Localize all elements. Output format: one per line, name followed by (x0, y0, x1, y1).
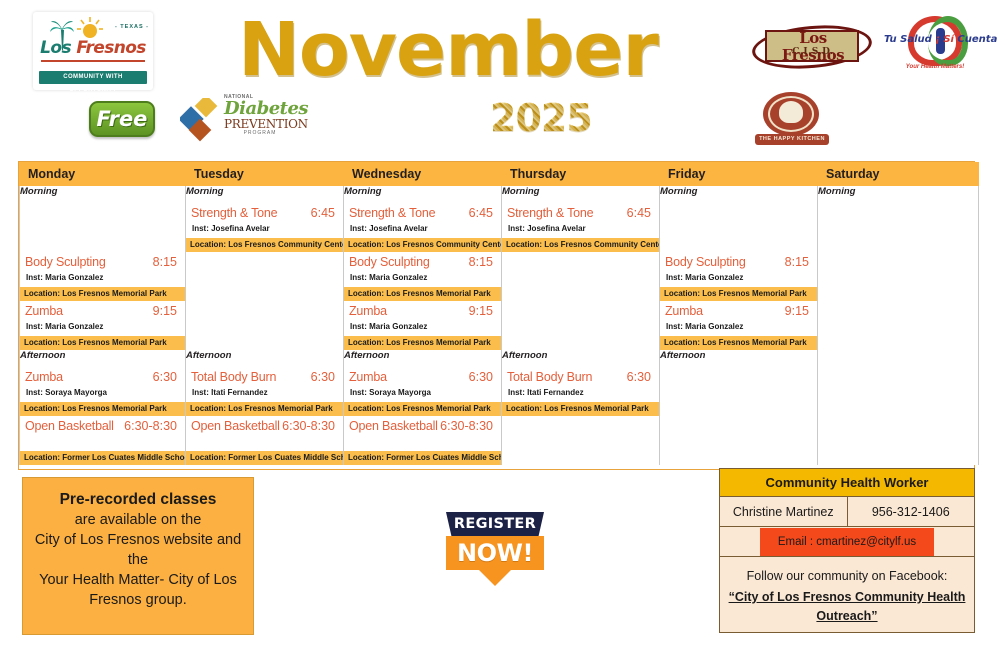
class-time: 9:15 (469, 304, 497, 319)
class-event-title-row: Zumba6:30 (25, 370, 181, 385)
cell-afternoon2-saturday[interactable] (818, 416, 979, 465)
los-fresnos-city-logo: - TEXAS - Los Fresnos COMMUNITY WITH OPP… (33, 12, 153, 90)
city-logo-rule (41, 60, 145, 62)
class-name: Body Sculpting (25, 255, 106, 270)
free-badge: Free (89, 101, 155, 137)
happy-kitchen-ribbon: THE HAPPY KITCHEN (755, 134, 829, 145)
facebook-follow-block: Follow our community on Facebook: “City … (720, 557, 974, 626)
class-name: Strength & Tone (349, 206, 435, 221)
band-morning-tuesday: Morning (186, 186, 344, 203)
class-location: Location: Former Los Cuates Middle Schoo… (20, 451, 185, 465)
class-time: 9:15 (153, 304, 181, 319)
class-location: Location: Los Fresnos Memorial Park (660, 287, 817, 301)
class-event-title-row: Open Basketball6:30-8:30 (191, 419, 339, 434)
class-time: 6:30 (311, 370, 339, 385)
class-schedule-calendar: Monday Tuesday Wednesday Thursday Friday… (18, 161, 975, 470)
cell-afternoon2-wednesday[interactable]: Open Basketball6:30-8:30Location: Former… (344, 416, 502, 465)
register-label: REGISTER (446, 512, 544, 538)
cell-morning1-monday[interactable] (20, 203, 186, 252)
class-event: Zumba9:15Inst: Maria Gonzalez (344, 301, 501, 336)
class-location: Location: Los Fresnos Memorial Park (660, 336, 817, 350)
tu-salud-si-cuenta-logo: Tu Salud ¡ Sí Cuenta ! Your Health Matte… (884, 14, 986, 72)
chef-hat-icon (779, 101, 803, 123)
class-name: Body Sculpting (349, 255, 430, 270)
class-time: 8:15 (153, 255, 181, 270)
prerecorded-classes-note: Pre-recorded classes are available on th… (22, 477, 254, 635)
cell-morning3-saturday[interactable] (818, 301, 979, 350)
band-afternoon-saturday-empty (818, 350, 979, 367)
happy-kitchen-logo: THE HAPPY KITCHEN (755, 92, 829, 148)
band-afternoon-tuesday: Afternoon (186, 350, 344, 367)
afternoon-slot1-row: Zumba6:30Inst: Soraya MayorgaLocation: L… (20, 367, 979, 416)
band-afternoon-thursday: Afternoon (502, 350, 660, 367)
class-event: Body Sculpting8:15Inst: Maria Gonzalez (20, 252, 185, 287)
tu-salud-text: Tu Salud ¡ Sí Cuenta ! (884, 34, 986, 45)
cell-morning1-friday[interactable] (660, 203, 818, 252)
free-badge-label: Free (91, 103, 153, 135)
city-logo-state: - TEXAS - (115, 24, 149, 30)
class-event-title-row: Zumba9:15 (665, 304, 813, 319)
class-location: Location: Los Fresnos Memorial Park (20, 287, 185, 301)
now-label: NOW! (446, 536, 544, 570)
cell-morning2-saturday[interactable] (818, 252, 979, 301)
class-location: Location: Los Fresnos Memorial Park (20, 402, 185, 416)
class-location: Location: Los Fresnos Community Center (502, 238, 659, 252)
class-time: 8:15 (469, 255, 497, 270)
cell-afternoon1-thursday[interactable]: Total Body Burn6:30Inst: Itati Fernandez… (502, 367, 660, 416)
class-instructor: Inst: Maria Gonzalez (665, 319, 813, 336)
band-morning-monday: Morning (20, 186, 186, 203)
day-header-saturday: Saturday (818, 163, 979, 186)
ndpp-prevention: PREVENTION (224, 118, 296, 130)
page-title-month: November (238, 10, 738, 90)
morning-band-row: Morning Morning Morning Morning Morning … (20, 186, 979, 203)
class-name: Open Basketball (191, 419, 280, 434)
down-arrow-icon (479, 570, 511, 586)
class-time: 6:30-8:30 (440, 419, 497, 434)
cell-morning2-friday[interactable]: Body Sculpting8:15Inst: Maria GonzalezLo… (660, 252, 818, 301)
class-event-title-row: Zumba9:15 (25, 304, 181, 319)
prerecorded-line2: are available on the (75, 512, 202, 528)
ndpp-diabetes: Diabetes (224, 100, 296, 118)
prerecorded-line4: Your Health Matter- City of Los Fresnos … (39, 572, 237, 608)
class-event-title-row: Strength & Tone6:45 (507, 206, 655, 221)
class-instructor: Inst: Josefina Avelar (349, 221, 497, 238)
lf-cisd-logo: Los Fresnos C.I.S.D. (752, 24, 872, 72)
band-afternoon-monday: Afternoon (20, 350, 186, 367)
community-health-worker-card: Community Health Worker Christine Martin… (719, 468, 975, 633)
class-event: Strength & Tone6:45Inst: Josefina Avelar (502, 203, 659, 238)
cell-morning3-friday[interactable]: Zumba9:15Inst: Maria GonzalezLocation: L… (660, 301, 818, 350)
cell-afternoon2-friday[interactable] (660, 416, 818, 465)
class-instructor: Inst: Itati Fernandez (507, 385, 655, 402)
tu-salud-subtitle: Your Health Matters! (884, 64, 986, 70)
class-time: 6:45 (627, 206, 655, 221)
class-event: Zumba9:15Inst: Maria Gonzalez (20, 301, 185, 336)
register-now-button[interactable]: REGISTER NOW! (446, 512, 544, 596)
day-header-thursday: Thursday (502, 163, 660, 186)
band-afternoon-wednesday: Afternoon (344, 350, 502, 367)
class-location: Location: Los Fresnos Memorial Park (502, 402, 659, 416)
cell-morning3-monday[interactable]: Zumba9:15Inst: Maria GonzalezLocation: L… (20, 301, 186, 350)
class-location: Location: Los Fresnos Memorial Park (344, 336, 501, 350)
afternoon-band-row: Afternoon Afternoon Afternoon Afternoon … (20, 350, 979, 367)
cell-morning1-wednesday[interactable]: Strength & Tone6:45Inst: Josefina Avelar… (344, 203, 502, 252)
class-name: Strength & Tone (191, 206, 277, 221)
day-header-wednesday: Wednesday (344, 163, 502, 186)
diamond-blocks-icon (180, 98, 224, 142)
cell-afternoon1-tuesday[interactable]: Total Body Burn6:30Inst: Itati Fernandez… (186, 367, 344, 416)
class-event-title-row: Zumba9:15 (349, 304, 497, 319)
band-morning-saturday: Morning (818, 186, 979, 203)
band-morning-friday: Morning (660, 186, 818, 203)
cell-morning3-tuesday[interactable] (186, 301, 344, 350)
class-instructor: Inst: Maria Gonzalez (349, 319, 497, 336)
class-event-title-row: Body Sculpting8:15 (25, 255, 181, 270)
class-time: 6:45 (469, 206, 497, 221)
class-event-title-row: Open Basketball6:30-8:30 (25, 419, 181, 434)
cell-afternoon2-monday[interactable]: Open Basketball6:30-8:30Location: Former… (20, 416, 186, 465)
contact-email[interactable]: Email : cmartinez@citylf.us (760, 528, 934, 556)
diabetes-logo-text: NATIONAL Diabetes PREVENTION PROGRAM (224, 94, 296, 136)
class-name: Zumba (349, 304, 387, 319)
class-time: 6:30 (627, 370, 655, 385)
class-time: 6:30-8:30 (282, 419, 339, 434)
band-morning-wednesday: Morning (344, 186, 502, 203)
class-event: Open Basketball6:30-8:30 (344, 416, 501, 451)
morning-slot3-row: Zumba9:15Inst: Maria GonzalezLocation: L… (20, 301, 979, 350)
cell-morning1-tuesday[interactable]: Strength & Tone6:45Inst: Josefina Avelar… (186, 203, 344, 252)
day-header-friday: Friday (660, 163, 818, 186)
contact-phone[interactable]: 956-312-1406 (848, 497, 975, 526)
contact-info-row: Christine Martinez 956-312-1406 (720, 497, 974, 527)
class-event-title-row: Body Sculpting8:15 (665, 255, 813, 270)
class-location: Location: Los Fresnos Community Center (344, 238, 501, 252)
class-time: 6:30-8:30 (124, 419, 181, 434)
cell-morning2-tuesday[interactable] (186, 252, 344, 301)
cell-afternoon1-monday[interactable]: Zumba6:30Inst: Soraya MayorgaLocation: L… (20, 367, 186, 416)
cell-afternoon1-friday[interactable] (660, 367, 818, 416)
class-instructor: Inst: Maria Gonzalez (25, 270, 181, 287)
class-location: Location: Los Fresnos Memorial Park (20, 336, 185, 350)
class-event: Zumba9:15Inst: Maria Gonzalez (660, 301, 817, 336)
afternoon-slot2-row: Open Basketball6:30-8:30Location: Former… (20, 416, 979, 465)
class-event-title-row: Zumba6:30 (349, 370, 497, 385)
class-name: Total Body Burn (191, 370, 276, 385)
class-name: Total Body Burn (507, 370, 592, 385)
cell-morning2-thursday[interactable] (502, 252, 660, 301)
morning-slot1-row: Strength & Tone6:45Inst: Josefina Avelar… (20, 203, 979, 252)
class-instructor: Inst: Soraya Mayorga (349, 385, 497, 402)
cell-afternoon2-thursday[interactable] (502, 416, 660, 465)
class-instructor (191, 434, 339, 451)
class-name: Open Basketball (25, 419, 114, 434)
schedule-table: Monday Tuesday Wednesday Thursday Friday… (19, 162, 979, 465)
class-location: Location: Los Fresnos Community Center (186, 238, 343, 252)
class-time: 8:15 (785, 255, 813, 270)
class-location: Location: Former Los Cuates Middle Schoo… (344, 451, 501, 465)
class-event-title-row: Strength & Tone6:45 (191, 206, 339, 221)
cell-afternoon2-tuesday[interactable]: Open Basketball6:30-8:30Location: Former… (186, 416, 344, 465)
class-instructor: Inst: Maria Gonzalez (349, 270, 497, 287)
contact-card-title: Community Health Worker (720, 469, 974, 497)
diabetes-prevention-logo: NATIONAL Diabetes PREVENTION PROGRAM (180, 94, 295, 146)
class-name: Strength & Tone (507, 206, 593, 221)
table-header-row: Monday Tuesday Wednesday Thursday Friday… (20, 163, 979, 186)
class-instructor (349, 434, 497, 451)
class-name: Zumba (349, 370, 387, 385)
class-time: 6:30 (153, 370, 181, 385)
day-header-monday: Monday (20, 163, 186, 186)
class-location: Location: Los Fresnos Memorial Park (186, 402, 343, 416)
contact-email-row: Email : cmartinez@citylf.us (720, 527, 974, 557)
class-time: 6:45 (311, 206, 339, 221)
page-title-year: 2025 (490, 96, 620, 140)
class-event: Total Body Burn6:30Inst: Itati Fernandez (186, 367, 343, 402)
class-name: Zumba (665, 304, 703, 319)
prerecorded-line1: Pre-recorded classes (60, 491, 217, 508)
class-event-title-row: Total Body Burn6:30 (507, 370, 655, 385)
class-name: Open Basketball (349, 419, 438, 434)
cell-afternoon1-saturday[interactable] (818, 367, 979, 416)
class-instructor: Inst: Josefina Avelar (191, 221, 339, 238)
day-header-tuesday: Tuesday (186, 163, 344, 186)
facebook-intro: Follow our community on Facebook: (747, 569, 948, 583)
prerecorded-line3: City of Los Fresnos website and the (35, 532, 241, 568)
class-event: Zumba6:30Inst: Soraya Mayorga (344, 367, 501, 402)
class-instructor: Inst: Maria Gonzalez (665, 270, 813, 287)
city-logo-name: Los Fresnos (37, 40, 149, 57)
class-instructor: Inst: Josefina Avelar (507, 221, 655, 238)
class-event: Strength & Tone6:45Inst: Josefina Avelar (344, 203, 501, 238)
class-event-title-row: Total Body Burn6:30 (191, 370, 339, 385)
city-logo-tagline: COMMUNITY WITH OPPORTUNITY (39, 71, 147, 84)
class-name: Body Sculpting (665, 255, 746, 270)
class-location: Location: Former Los Cuates Middle Schoo… (186, 451, 343, 465)
class-event: Open Basketball6:30-8:30 (20, 416, 185, 451)
facebook-page-link[interactable]: “City of Los Fresnos Community Health Ou… (726, 588, 968, 626)
class-instructor (25, 434, 181, 451)
cisd-district: C.I.S.D. (767, 47, 859, 57)
class-event: Open Basketball6:30-8:30 (186, 416, 343, 451)
cell-afternoon1-wednesday[interactable]: Zumba6:30Inst: Soraya MayorgaLocation: L… (344, 367, 502, 416)
class-event: Total Body Burn6:30Inst: Itati Fernandez (502, 367, 659, 402)
poster-header: - TEXAS - Los Fresnos COMMUNITY WITH OPP… (0, 0, 1000, 155)
class-event: Strength & Tone6:45Inst: Josefina Avelar (186, 203, 343, 238)
cell-morning2-wednesday[interactable]: Body Sculpting8:15Inst: Maria GonzalezLo… (344, 252, 502, 301)
cell-morning1-saturday[interactable] (818, 203, 979, 252)
class-event: Zumba6:30Inst: Soraya Mayorga (20, 367, 185, 402)
class-name: Zumba (25, 370, 63, 385)
class-event-title-row: Body Sculpting8:15 (349, 255, 497, 270)
class-event-title-row: Strength & Tone6:45 (349, 206, 497, 221)
band-morning-thursday: Morning (502, 186, 660, 203)
class-time: 6:30 (469, 370, 497, 385)
class-event: Body Sculpting8:15Inst: Maria Gonzalez (660, 252, 817, 287)
class-time: 9:15 (785, 304, 813, 319)
class-instructor: Inst: Maria Gonzalez (25, 319, 181, 336)
class-name: Zumba (25, 304, 63, 319)
class-event-title-row: Open Basketball6:30-8:30 (349, 419, 497, 434)
class-instructor: Inst: Itati Fernandez (191, 385, 339, 402)
cell-morning3-thursday[interactable] (502, 301, 660, 350)
class-instructor: Inst: Soraya Mayorga (25, 385, 181, 402)
cell-morning2-monday[interactable]: Body Sculpting8:15Inst: Maria GonzalezLo… (20, 252, 186, 301)
contact-name: Christine Martinez (720, 497, 848, 526)
class-location: Location: Los Fresnos Memorial Park (344, 287, 501, 301)
cell-morning1-thursday[interactable]: Strength & Tone6:45Inst: Josefina Avelar… (502, 203, 660, 252)
cell-morning3-wednesday[interactable]: Zumba9:15Inst: Maria GonzalezLocation: L… (344, 301, 502, 350)
morning-slot2-row: Body Sculpting8:15Inst: Maria GonzalezLo… (20, 252, 979, 301)
class-location: Location: Los Fresnos Memorial Park (344, 402, 501, 416)
band-afternoon-friday: Afternoon (660, 350, 818, 367)
class-event: Body Sculpting8:15Inst: Maria Gonzalez (344, 252, 501, 287)
